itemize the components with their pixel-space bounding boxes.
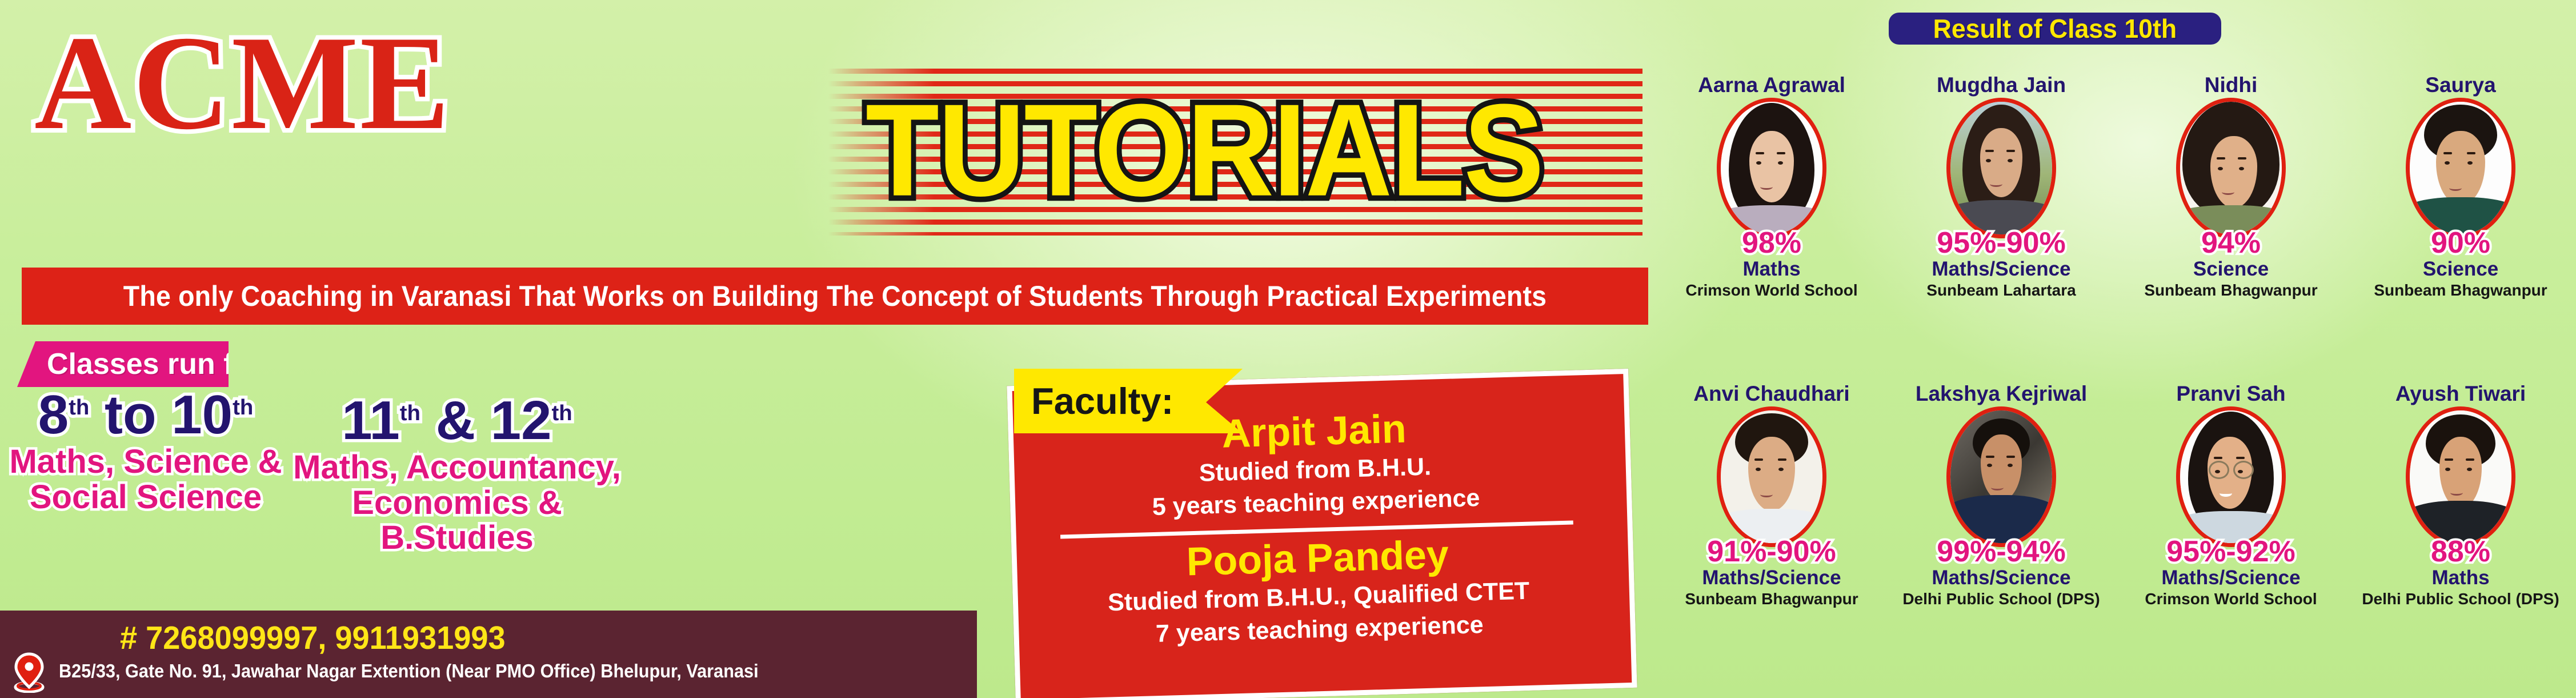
student-score: 95%-92% [2166, 537, 2295, 567]
student-subject: Science [2423, 259, 2498, 280]
student-school: Sunbeam Lahartara [1926, 282, 2076, 298]
classes-run-for-label: Classes run for [17, 347, 263, 381]
logo-acme-text: ACME [34, 16, 451, 151]
grade-number-8: 8 [38, 384, 69, 445]
student-school: Sunbeam Bhagwanpur [2374, 282, 2547, 298]
grade-column-8-to-10: 8th to 10th Maths, Science & Social Scie… [6, 389, 286, 514]
student-card[interactable]: Nidhi 94% Science Sunbeam Bhagwanpur [2116, 74, 2346, 383]
classes-run-for-tag: Classes run for [17, 341, 229, 387]
student-photo [2176, 98, 2286, 238]
grade-heading-8-to-10: 8th to 10th [6, 389, 286, 441]
address-text: B25/33, Gate No. 91, Jawahar Nagar Exten… [59, 660, 759, 682]
student-subject: Maths/Science [1932, 568, 2070, 589]
grade-column-11-and-12: 11th & 12th Maths, Accountancy, Economic… [291, 394, 623, 556]
faculty-detail-1b: 5 years teaching experience [1152, 483, 1480, 523]
result-badge: Result of Class 10th [1889, 13, 2221, 45]
student-school: Delhi Public School (DPS) [2362, 591, 2559, 607]
student-row: Anvi Chaudhari 91%-90% Maths/Science Sun… [1657, 383, 2576, 698]
faculty-detail-1a: Studied from B.H.U. [1199, 452, 1431, 489]
grade-heading-11-and-12: 11th & 12th [291, 394, 623, 446]
grade-connector-and: & 12 [420, 390, 551, 451]
student-name: Anvi Chaudhari [1693, 383, 1849, 404]
student-card[interactable]: Ayush Tiwari 88% Maths Delhi Public Scho… [2346, 383, 2575, 698]
student-photo [1717, 98, 1826, 238]
student-card[interactable]: Anvi Chaudhari 91%-90% Maths/Science Sun… [1657, 383, 1886, 698]
logo-tutorials-text: TUTORIALS [866, 85, 1543, 216]
grade-ordinal-th-2: th [233, 395, 253, 420]
student-name: Mugdha Jain [1937, 74, 2066, 95]
student-subject: Maths/Science [1702, 568, 1841, 589]
student-subject: Maths [2431, 568, 2489, 589]
student-photo [2406, 406, 2515, 547]
student-subject: Maths [1742, 259, 1800, 280]
student-card[interactable]: Saurya 90% Science Sunbeam Bhagwanpur [2346, 74, 2575, 383]
student-school: Sunbeam Bhagwanpur [2144, 282, 2317, 298]
faculty-tag-label: Faculty: [1014, 380, 1173, 422]
grade-subject-line-2: Social Science [6, 480, 286, 514]
grade-ordinal-th-4: th [551, 401, 572, 425]
phone-numbers[interactable]: # 7268099997, 9911931993 [120, 619, 506, 657]
student-row: Aarna Agrawal 98% Maths Crimson World Sc… [1657, 74, 2576, 383]
student-score: 91%-90% [1707, 537, 1836, 567]
student-subject: Maths/Science [2161, 568, 2300, 589]
student-score: 99%-94% [1937, 537, 2065, 567]
student-card[interactable]: Aarna Agrawal 98% Maths Crimson World Sc… [1657, 74, 1886, 383]
student-card[interactable]: Lakshya Kejriwal 99%-94% Maths/Science D… [1886, 383, 2116, 698]
student-score: 98% [1742, 228, 1801, 258]
student-school: Crimson World School [1685, 282, 1857, 298]
student-score: 94% [2201, 228, 2261, 258]
grade-subject-line-4: Economics & B.Studies [291, 485, 623, 556]
student-school: Delhi Public School (DPS) [1902, 591, 2100, 607]
student-subject: Science [2193, 259, 2269, 280]
grade-ordinal-th: th [69, 395, 89, 420]
student-score: 88% [2431, 537, 2490, 567]
advertisement-banner: ACME TUTORIALS The only Coaching in Vara… [0, 0, 2576, 698]
student-photo [2406, 98, 2515, 238]
student-name: Pranvi Sah [2176, 383, 2285, 404]
student-school: Crimson World School [2145, 591, 2317, 607]
grade-subjects-8-to-10: Maths, Science & Social Science [6, 444, 286, 514]
student-name: Saurya [2425, 74, 2495, 95]
student-photo [1946, 98, 2056, 238]
result-badge-label: Result of Class 10th [1933, 13, 2177, 44]
grade-subjects-11-and-12: Maths, Accountancy, Economics & B.Studie… [291, 450, 623, 555]
students-results-grid: Aarna Agrawal 98% Maths Crimson World Sc… [1657, 74, 2576, 698]
grade-subject-line-3: Maths, Accountancy, [291, 450, 623, 485]
grade-number-11: 11 [342, 390, 399, 451]
grade-connector-to: to 10 [89, 384, 233, 445]
student-name: Ayush Tiwari [2395, 383, 2526, 404]
faculty-name-2: Pooja Pandey [1186, 534, 1449, 583]
student-name: Aarna Agrawal [1698, 74, 1845, 95]
student-photo [1717, 406, 1826, 547]
student-score: 95%-90% [1937, 228, 2065, 258]
student-photo [1946, 406, 2056, 547]
student-card[interactable]: Mugdha Jain 95%-90% Maths/Science Sunbea… [1886, 74, 2116, 383]
faculty-name-1: Arpit Jain [1221, 408, 1407, 455]
grade-subject-line-1: Maths, Science & [6, 444, 286, 479]
student-school: Sunbeam Bhagwanpur [1685, 591, 1858, 607]
tagline-text: The only Coaching in Varanasi That Works… [123, 280, 1547, 313]
faculty-detail-2b: 7 years teaching experience [1155, 610, 1484, 650]
student-subject: Maths/Science [1932, 259, 2070, 280]
student-score: 90% [2431, 228, 2490, 258]
student-photo [2176, 406, 2286, 547]
grade-ordinal-th-3: th [400, 401, 420, 425]
student-name: Nidhi [2205, 74, 2257, 95]
student-name: Lakshya Kejriwal [1916, 383, 2087, 404]
student-card[interactable]: Pranvi Sah 95%-92% Maths/Science Crimson… [2116, 383, 2346, 698]
tagline-bar: The only Coaching in Varanasi That Works… [22, 268, 1648, 325]
location-pin-icon [11, 652, 47, 693]
